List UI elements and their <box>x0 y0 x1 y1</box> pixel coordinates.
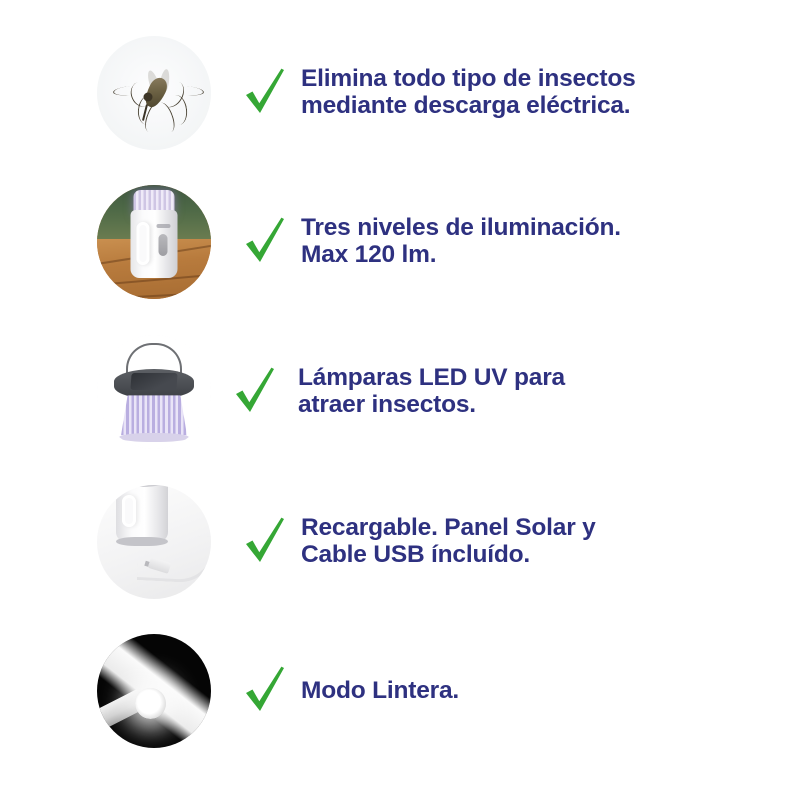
usb-charging-photo <box>97 485 211 599</box>
green-check-icon <box>233 366 277 418</box>
uv-lamp-solar-top-photo <box>97 335 211 449</box>
mosquito-photo <box>97 36 211 150</box>
feature-row: Lámparas LED UV para atraer insectos. <box>0 317 800 467</box>
flashlight-beam-photo <box>97 634 211 748</box>
green-check-icon <box>243 67 287 119</box>
feature-row: Recargable. Panel Solar y Cable USB íncl… <box>0 467 800 617</box>
feature-text: Elimina todo tipo de insectos mediante d… <box>301 66 636 120</box>
green-check-icon <box>243 216 287 268</box>
green-check-icon <box>243 516 287 568</box>
feature-text: Lámparas LED UV para atraer insectos. <box>291 365 565 419</box>
feature-text: Tres niveles de iluminación. Max 120 lm. <box>301 215 621 269</box>
feature-text: Recargable. Panel Solar y Cable USB íncl… <box>301 515 596 569</box>
feature-row: Tres niveles de iluminación. Max 120 lm. <box>0 168 800 318</box>
green-check-icon <box>243 665 287 717</box>
feature-text: Modo Lintera. <box>301 678 459 705</box>
feature-list: Elimina todo tipo de insectos mediante d… <box>0 0 800 800</box>
lantern-on-deck-photo <box>97 185 211 299</box>
feature-row: Elimina todo tipo de insectos mediante d… <box>0 18 800 168</box>
feature-row: Modo Lintera. <box>0 616 800 766</box>
